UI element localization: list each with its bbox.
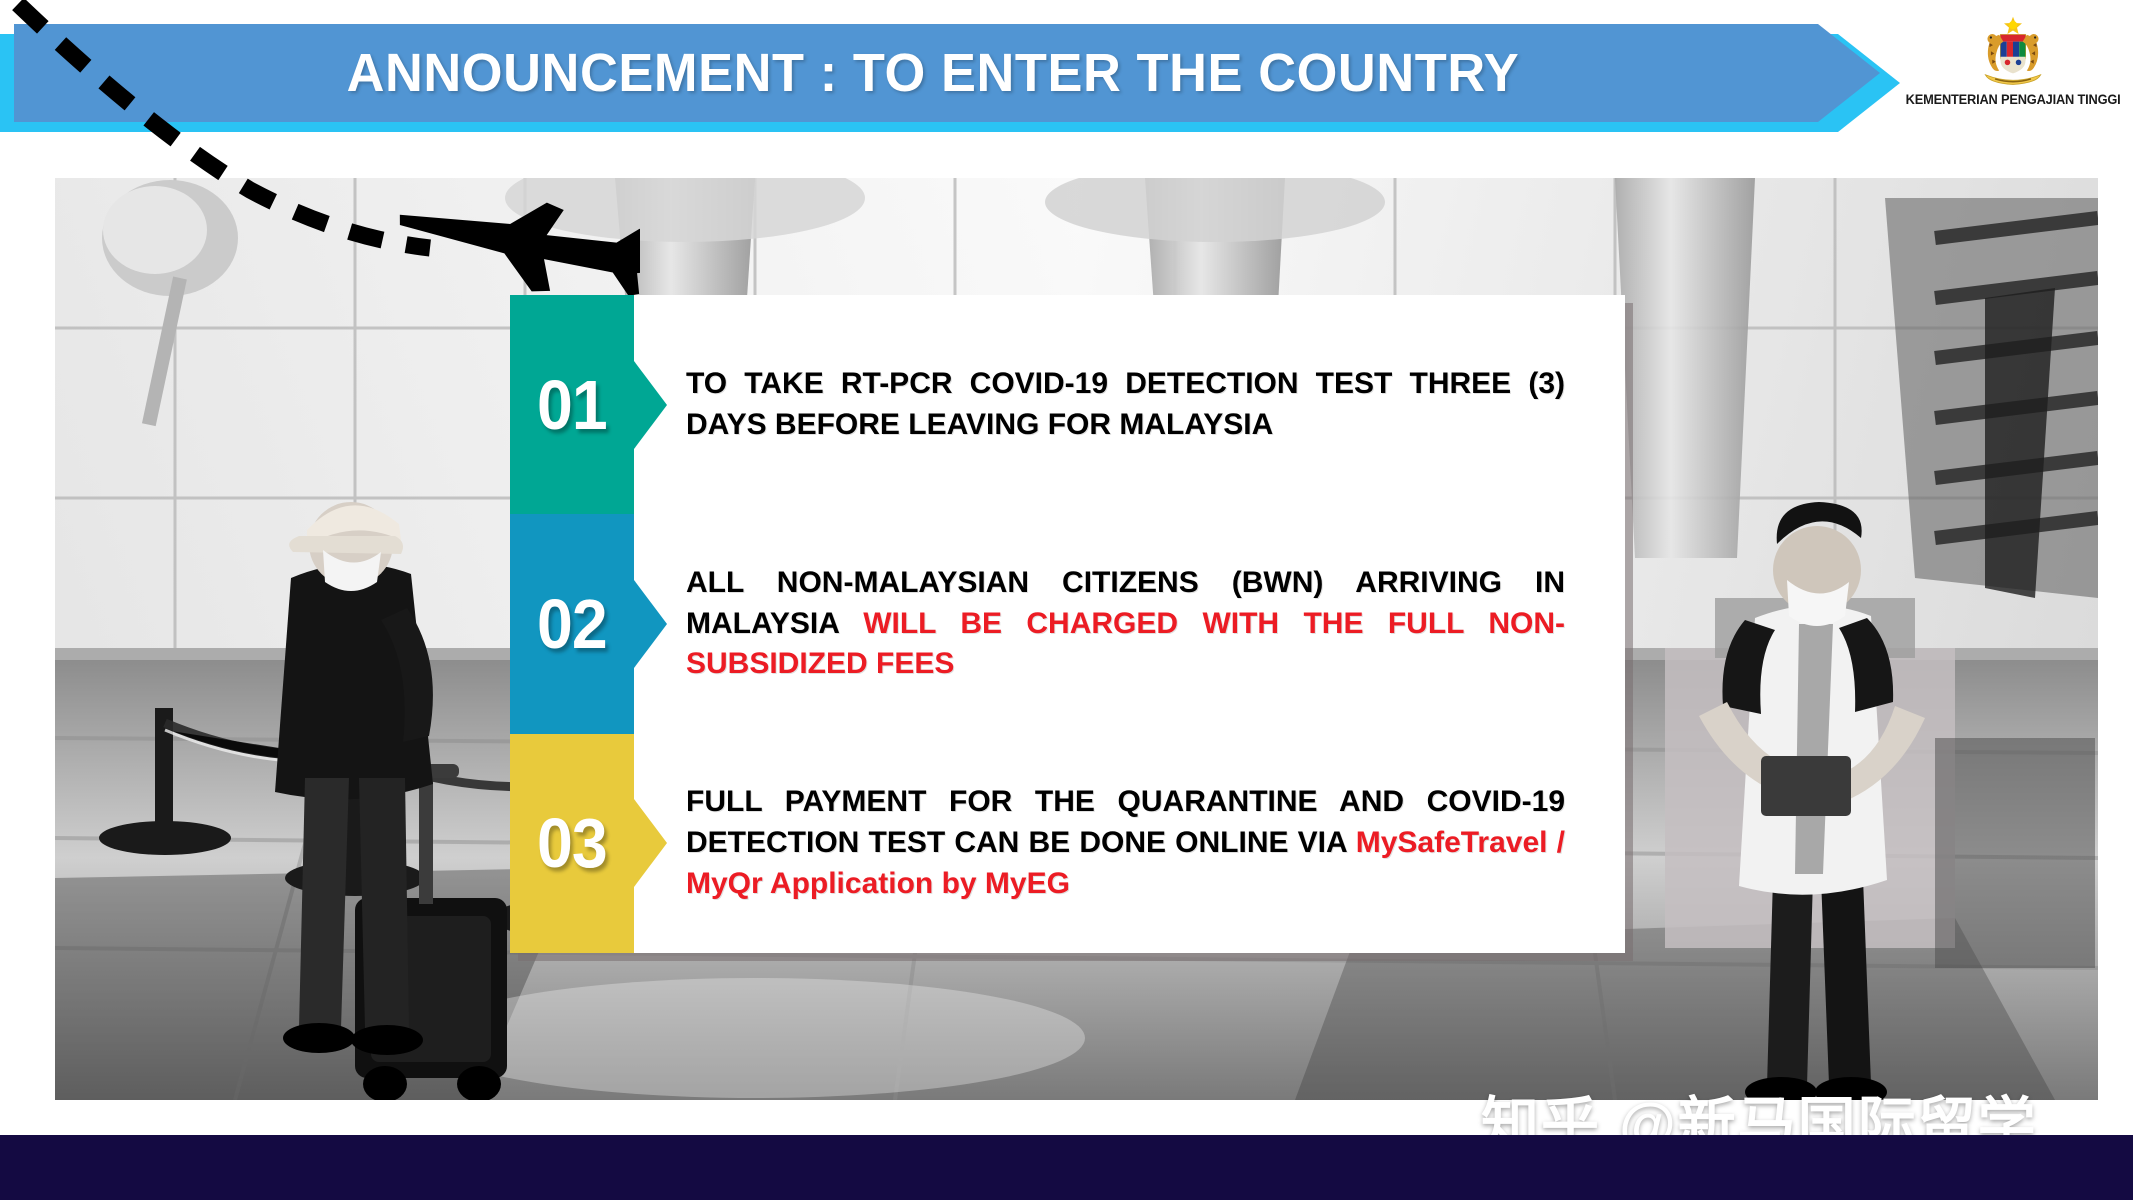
step-number-cell-2: 02 (510, 514, 634, 733)
ministry-logo-caption: KEMENTERIAN PENGAJIAN TINGGI (1906, 92, 2121, 107)
step-number-2: 02 (537, 589, 607, 659)
announcement-card: 01 TO TAKE RT-PCR COVID-19 DETECTION TES… (510, 295, 1625, 953)
step-text-2: ALL NON-MALAYSIAN CITIZENS (BWN) ARRIVIN… (686, 563, 1565, 685)
footer-bar (0, 1135, 2133, 1200)
announcement-item-3: 03 FULL PAYMENT FOR THE QUARANTINE AND C… (510, 734, 1625, 953)
header-banner: ANNOUNCEMENT : TO ENTER THE COUNTRY (0, 24, 1920, 132)
step-number-cell-3: 03 (510, 734, 634, 953)
step-body-cell-3: FULL PAYMENT FOR THE QUARANTINE AND COVI… (634, 734, 1625, 953)
announcement-item-2: 02 ALL NON-MALAYSIAN CITIZENS (BWN) ARRI… (510, 514, 1625, 733)
step-number-3: 03 (537, 808, 607, 878)
announcement-item-1: 01 TO TAKE RT-PCR COVID-19 DETECTION TES… (510, 295, 1625, 514)
step-number-cell-1: 01 (510, 295, 634, 514)
step-body-cell-2: ALL NON-MALAYSIAN CITIZENS (BWN) ARRIVIN… (634, 514, 1625, 733)
step-body-cell-1: TO TAKE RT-PCR COVID-19 DETECTION TEST T… (634, 295, 1625, 514)
page-title: ANNOUNCEMENT : TO ENTER THE COUNTRY (346, 42, 1548, 104)
banner-main-shape: ANNOUNCEMENT : TO ENTER THE COUNTRY (14, 24, 1880, 122)
slide-root: 知乎 @新马国际留学 ANNOUNCEMENT : TO ENTER THE C… (0, 0, 2133, 1200)
ministry-logo: KEMENTERIAN PENGAJIAN TINGGI (1900, 14, 2126, 118)
chevron-pointer-3 (634, 799, 667, 887)
step-number-1: 01 (537, 370, 607, 440)
chevron-pointer-1 (634, 361, 667, 449)
step-text-1: TO TAKE RT-PCR COVID-19 DETECTION TEST T… (686, 364, 1565, 446)
malaysia-coat-of-arms-icon (1971, 14, 2055, 90)
step-text-3: FULL PAYMENT FOR THE QUARANTINE AND COVI… (686, 782, 1565, 904)
step-text-1-plain: TO TAKE RT-PCR COVID-19 DETECTION TEST T… (686, 367, 1565, 441)
chevron-pointer-2 (634, 580, 667, 668)
